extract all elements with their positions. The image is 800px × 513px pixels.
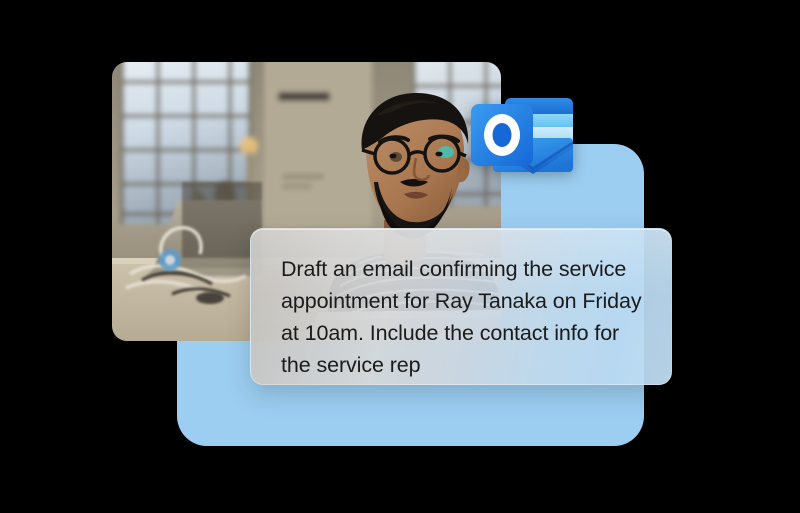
composition-stage: Draft an email confirming the service ap… (0, 0, 800, 513)
outlook-logo-glyph (463, 82, 583, 182)
ai-prompt-text: Draft an email confirming the service ap… (251, 229, 671, 381)
microsoft-outlook-icon[interactable] (463, 82, 583, 182)
ai-prompt-card[interactable]: Draft an email confirming the service ap… (250, 228, 672, 385)
